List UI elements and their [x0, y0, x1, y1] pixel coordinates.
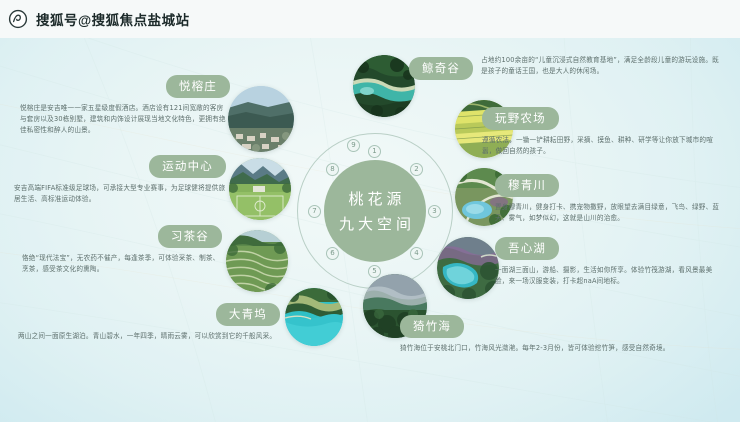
entry-desc-wan-ye-nong-chang: 遵循农法，一锄一铲耕耘田野，采摘、摸鱼、耕种、研学等让你放下城市的喧嚣，做回自然… — [482, 135, 720, 157]
entry-yi-zhu-hai[interactable]: 猗竹海 猗竹海位于安桃北门口，竹海风光潋滟。每年2-3月份，皆可体验挖竹笋，感受… — [400, 315, 720, 354]
hub-title-line2: 九大空间 — [335, 213, 415, 234]
infographic-poster: 桃花源 九大空间 1 2 3 4 5 6 7 8 9 — [0, 0, 740, 422]
chip-row: 大青坞 — [18, 303, 280, 326]
entry-label-yun-dong-zhong-xin[interactable]: 运动中心 — [149, 155, 226, 178]
entry-wan-ye-nong-chang[interactable]: 玩野农场 遵循农法，一锄一铲耕耘田野，采摘、摸鱼、耕种、研学等让你放下城市的喧嚣… — [482, 107, 720, 157]
center-hub: 桃花源 九大空间 — [324, 160, 426, 262]
entry-label-yi-zhu-hai[interactable]: 猗竹海 — [400, 315, 464, 338]
entry-desc-yun-dong-zhong-xin: 安吉高端FIFA标准级足球场，可承接大型专业赛事，为足球健将提供旅居生活、高标准… — [14, 183, 226, 205]
entry-desc-mu-qing-chuan: 置身穆青川，健身打卡、携宠物撒野，放眼望去满目绿意，飞鸟、绿野、蓝天、雾气，如梦… — [495, 202, 723, 224]
entry-jing-qi-gu[interactable]: 鲸奇谷 占地约100余亩的“儿童沉浸式自然教育基地”，满足全龄段儿童的游玩设施。… — [409, 55, 719, 80]
photo-image — [437, 237, 499, 299]
chip-row: 穆青川 — [495, 174, 723, 197]
sohu-logo-icon — [8, 9, 28, 29]
photo-image — [353, 55, 415, 117]
ring-node-5[interactable]: 5 — [368, 265, 381, 278]
entry-mu-qing-chuan[interactable]: 穆青川 置身穆青川，健身打卡、携宠物撒野，放眼望去满目绿意，飞鸟、绿野、蓝天、雾… — [495, 174, 723, 224]
photo-yue-rong-zhuang[interactable] — [228, 86, 294, 152]
ring-node-9[interactable]: 9 — [347, 139, 360, 152]
chip-row: 习茶谷 — [22, 225, 222, 248]
entry-desc-jing-qi-gu: 占地约100余亩的“儿童沉浸式自然教育基地”，满足全龄段儿童的游玩设施。既是孩子… — [481, 55, 719, 77]
entry-yun-dong-zhong-xin[interactable]: 运动中心 安吉高端FIFA标准级足球场，可承接大型专业赛事，为足球健将提供旅居生… — [14, 155, 226, 205]
photo-xi-cha-gu[interactable] — [226, 230, 288, 292]
ring-node-8[interactable]: 8 — [326, 163, 339, 176]
entry-wu-xin-hu[interactable]: 吾心湖 一面湖三面山，游船、摄影，生活如你所享。体验竹筏游湖，看风景最美脸，来一… — [495, 237, 723, 287]
photo-da-qing-wu[interactable] — [285, 288, 343, 346]
ring-node-7[interactable]: 7 — [308, 205, 321, 218]
screenshot-root: 搜狐号@搜狐焦点盐城站 桃花源 九大空 — [0, 0, 740, 422]
chip-row: 玩野农场 — [482, 107, 720, 130]
ring-node-2[interactable]: 2 — [410, 163, 423, 176]
ring-node-3[interactable]: 3 — [428, 205, 441, 218]
photo-image — [228, 86, 294, 152]
photo-jing-qi-gu[interactable] — [353, 55, 415, 117]
entry-da-qing-wu[interactable]: 大青坞 两山之间一面原生湖泊。青山碧水，一年四季，晴雨云雾，可以欣赏到它的千般风… — [18, 303, 280, 342]
photo-image — [229, 158, 291, 220]
ring-node-4[interactable]: 4 — [410, 247, 423, 260]
photo-image — [226, 230, 288, 292]
entry-label-wu-xin-hu[interactable]: 吾心湖 — [495, 237, 559, 260]
entry-yue-rong-zhuang[interactable]: 悦榕庄 悦榕庄是安吉唯一一家五星级度假酒店。酒店设有121间宽敞的客房与套房以及… — [20, 75, 230, 136]
photo-yun-dong-zhong-xin[interactable] — [229, 158, 291, 220]
ring-node-1[interactable]: 1 — [368, 145, 381, 158]
entry-label-mu-qing-chuan[interactable]: 穆青川 — [495, 174, 559, 197]
hub-title-line1: 桃花源 — [344, 188, 405, 209]
entry-desc-yi-zhu-hai: 猗竹海位于安桃北门口，竹海风光潋滟。每年2-3月份，皆可体验挖竹笋，感受自然奇境… — [400, 343, 720, 354]
photo-wu-xin-hu[interactable] — [437, 237, 499, 299]
header-title: 搜狐号@搜狐焦点盐城站 — [36, 9, 190, 29]
chip-row: 吾心湖 — [495, 237, 723, 260]
entry-desc-yue-rong-zhuang: 悦榕庄是安吉唯一一家五星级度假酒店。酒店设有121间宽敞的客房与套房以及30栋别… — [20, 103, 230, 136]
entry-desc-da-qing-wu: 两山之间一面原生湖泊。青山碧水，一年四季，晴雨云雾，可以欣赏到它的千般风采。 — [18, 331, 280, 342]
entry-desc-wu-xin-hu: 一面湖三面山，游船、摄影，生活如你所享。体验竹筏游湖，看风景最美脸，来一场汉服变… — [495, 265, 723, 287]
sohu-header-bar: 搜狐号@搜狐焦点盐城站 — [0, 0, 740, 38]
entry-label-yue-rong-zhuang[interactable]: 悦榕庄 — [166, 75, 230, 98]
chip-desc-row: 鲸奇谷 占地约100余亩的“儿童沉浸式自然教育基地”，满足全龄段儿童的游玩设施。… — [409, 55, 719, 80]
photo-image — [285, 288, 343, 346]
entry-label-jing-qi-gu[interactable]: 鲸奇谷 — [409, 57, 473, 80]
entry-desc-xi-cha-gu: 恪绝“现代法宝”，无农药不催产，每逢茶季，可体验采茶、制茶、烹茶，感受茶文化的熏… — [22, 253, 222, 275]
entry-label-wan-ye-nong-chang[interactable]: 玩野农场 — [482, 107, 559, 130]
entry-xi-cha-gu[interactable]: 习茶谷 恪绝“现代法宝”，无农药不催产，每逢茶季，可体验采茶、制茶、烹茶，感受茶… — [22, 225, 222, 275]
chip-row: 悦榕庄 — [20, 75, 230, 98]
entry-label-xi-cha-gu[interactable]: 习茶谷 — [158, 225, 222, 248]
entry-label-da-qing-wu[interactable]: 大青坞 — [216, 303, 280, 326]
ring-node-6[interactable]: 6 — [326, 247, 339, 260]
chip-row: 运动中心 — [14, 155, 226, 178]
chip-row: 猗竹海 — [400, 315, 720, 338]
